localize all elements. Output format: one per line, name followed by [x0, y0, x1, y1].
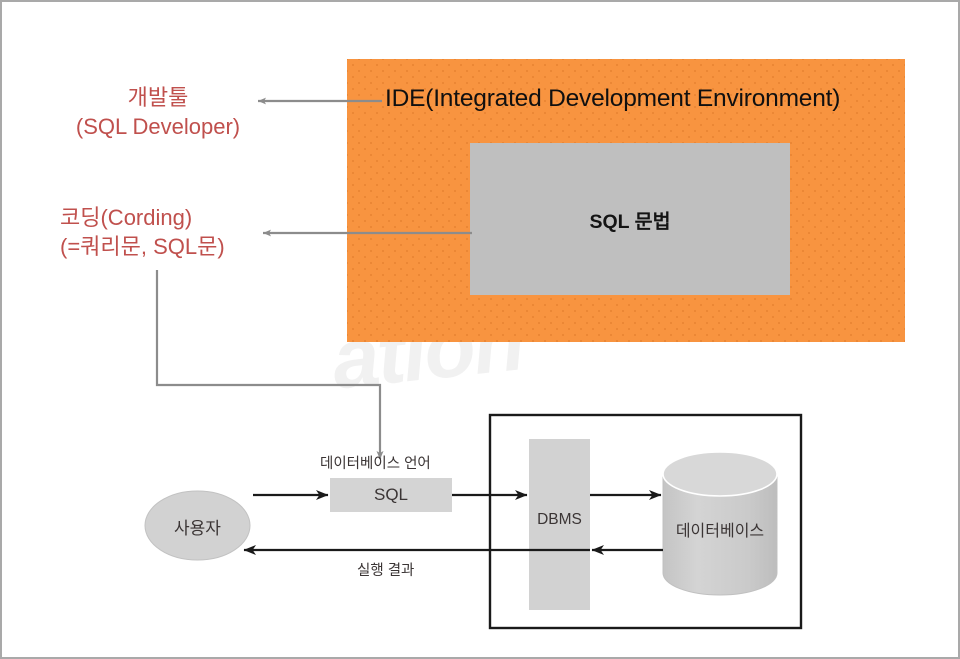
- diagram-canvas: ation SQL 문법 IDE(Integrated Development …: [0, 0, 960, 659]
- label-user: 사용자: [145, 514, 250, 539]
- connector-coding-to-db-language: [157, 270, 380, 459]
- label-exec-result: 실행 결과: [357, 559, 414, 580]
- label-sql-box: SQL: [330, 485, 452, 505]
- diagram-vector-overlay: [2, 2, 960, 659]
- label-dbms: DBMS: [529, 511, 590, 529]
- label-db-language: 데이터베이스 언어: [320, 452, 431, 473]
- label-database: 데이터베이스: [663, 517, 777, 541]
